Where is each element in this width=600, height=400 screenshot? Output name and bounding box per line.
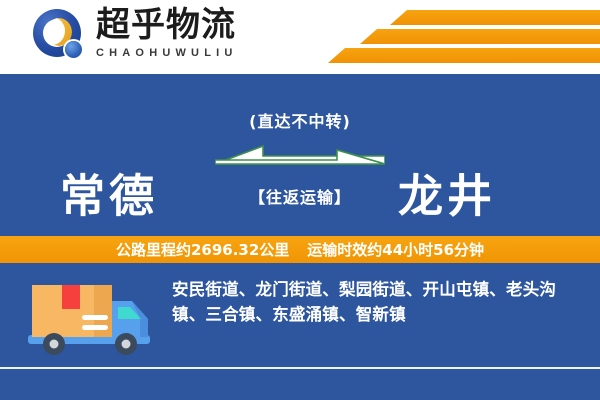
- stripe-middle: [360, 29, 600, 44]
- destination-city: 龙井: [398, 160, 496, 225]
- header-bar: 超乎物流 CHAOHUWULIU: [0, 0, 600, 74]
- brand-block: 超乎物流 CHAOHUWULIU: [96, 6, 276, 59]
- speed-stripes-icon: [310, 0, 600, 74]
- distance-bar: 公路里程约2696.32公里 运输时效约44小时56分钟: [0, 236, 600, 263]
- coverage-area-section: 安民街道、龙门街道、梨园街道、开山屯镇、老头沟镇、三合镇、东盛涌镇、智新镇: [0, 263, 600, 367]
- brand-name-cn: 超乎物流: [96, 6, 276, 44]
- logistics-route-poster: 超乎物流 CHAOHUWULIU 常德 (直达不中转) 【往返运输】 龙井 公路…: [0, 0, 600, 400]
- route-note-direct: (直达不中转): [205, 108, 395, 132]
- stripe-bottom: [328, 48, 600, 63]
- double-headed-arrow-icon: [215, 140, 385, 178]
- footer-bar: [0, 369, 600, 400]
- stripe-top: [390, 10, 600, 25]
- coverage-area-list: 安民街道、龙门街道、梨园街道、开山屯镇、老头沟镇、三合镇、东盛涌镇、智新镇: [172, 277, 576, 327]
- duration-label: 运输时效约44小时56分钟: [307, 239, 484, 260]
- route-middle-block: (直达不中转) 【往返运输】: [205, 108, 395, 228]
- logo-dot-icon: [65, 41, 82, 58]
- brand-name-en: CHAOHUWULIU: [96, 47, 276, 59]
- circle-crescent-logo-icon: [33, 9, 89, 65]
- route-banner: 常德 (直达不中转) 【往返运输】 龙井: [0, 74, 600, 234]
- route-note-roundtrip: 【往返运输】: [205, 184, 395, 208]
- mileage-label: 公路里程约2696.32公里: [116, 239, 289, 260]
- delivery-truck-icon: [26, 277, 156, 357]
- origin-city: 常德: [60, 160, 158, 225]
